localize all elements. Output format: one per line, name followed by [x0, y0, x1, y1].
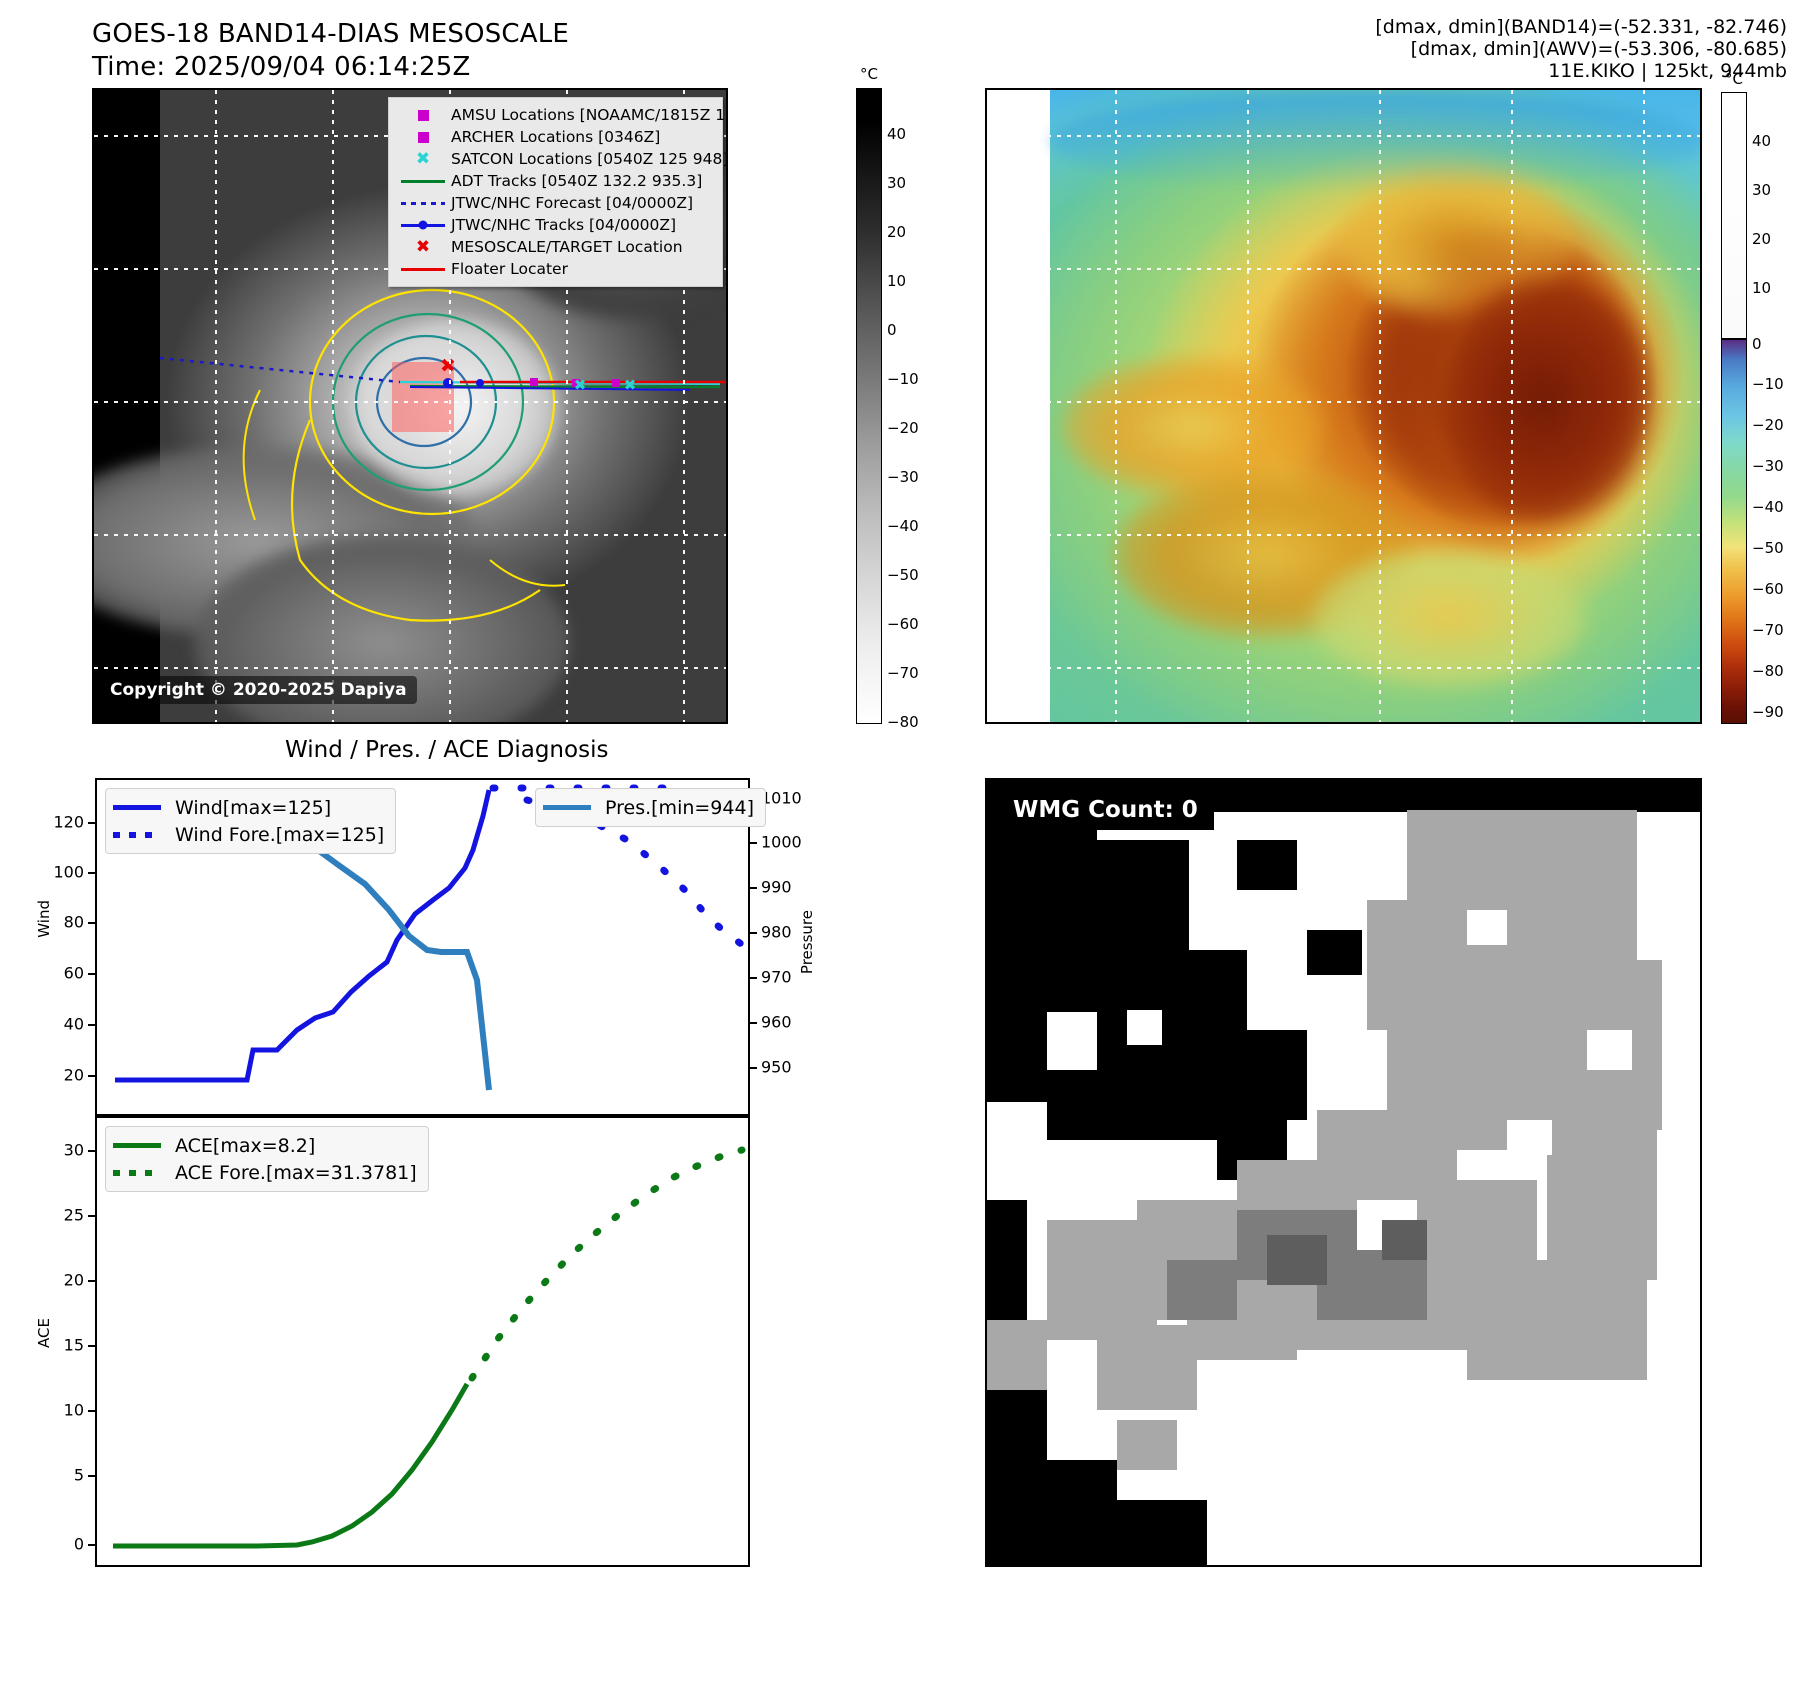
legend-label: Wind[max=125] — [175, 797, 331, 819]
cir-colorbar-lower[interactable]: 0 −10 −20 −30 −40 −50 −60 −70 −80 −90 — [1721, 339, 1747, 724]
legend-item[interactable]: ✖ SATCON Locations [0540Z 125 948] — [395, 148, 714, 170]
legend-label: Wind Fore.[max=125] — [175, 824, 384, 846]
stats-awv: [dmax, dmin](AWV)=(-53.306, -80.685) — [1375, 38, 1787, 60]
color-ir-panel[interactable]: 18°N 16°N 14°N 12°N 10°N 136°W 134°W 132… — [985, 88, 1702, 724]
ace-axis-label: ACE — [35, 1318, 53, 1348]
cb-tick: −80 — [887, 713, 919, 731]
cir-gridline-v — [1115, 90, 1117, 722]
forecast-dotted-line-icon — [395, 202, 451, 205]
amsu-square-icon — [395, 110, 451, 121]
cir-gridline-h — [987, 534, 1700, 536]
legend-item[interactable]: JTWC/NHC Tracks [04/0000Z] — [395, 214, 714, 236]
legend-label: SATCON Locations [0540Z 125 948] — [451, 150, 728, 168]
satcon-x-icon: ✖ — [395, 151, 451, 168]
cb-tick: −70 — [887, 664, 919, 682]
cir-gridline-h — [987, 667, 1700, 669]
cir-gridline-h — [987, 135, 1700, 137]
legend-label: ACE[max=8.2] — [175, 1135, 315, 1157]
svg-text:✖: ✖ — [574, 376, 587, 394]
legend-label: AMSU Locations [NOAAMC/1815Z 104 973] — [451, 106, 728, 124]
ace-ytick: 10 — [64, 1401, 84, 1420]
pressure-legend[interactable]: Pres.[min=944] — [535, 788, 766, 827]
ace-ytick: 0 — [74, 1535, 84, 1554]
svg-text:✖: ✖ — [624, 376, 637, 394]
legend-item[interactable]: JTWC/NHC Forecast [04/0000Z] — [395, 192, 714, 214]
ace-chart[interactable]: 30 25 20 15 10 5 0 ACE ACE[max=8.2] ACE … — [95, 1116, 750, 1567]
page-title: GOES-18 BAND14-DIAS MESOSCALE Time: 2025… — [92, 18, 569, 84]
archer-square-icon — [395, 132, 451, 143]
target-x-icon: ✖ — [395, 239, 451, 256]
cb-tick: 40 — [1752, 132, 1771, 150]
cb-tick: −10 — [887, 370, 919, 388]
wmg-grid-image — [987, 780, 1700, 1565]
cb-tick: 30 — [1752, 181, 1771, 199]
cir-gridline-v — [1379, 90, 1381, 722]
legend-label: ADT Tracks [0540Z 132.2 935.3] — [451, 172, 702, 190]
wind-ytick: 100 — [53, 863, 84, 882]
wind-ytick: 60 — [64, 964, 84, 983]
cb-tick: −50 — [887, 566, 919, 584]
cb-tick: −40 — [887, 517, 919, 535]
ace-legend[interactable]: ACE[max=8.2] ACE Fore.[max=31.3781] — [105, 1126, 429, 1192]
ace-solid-line-icon — [113, 1143, 175, 1148]
cb-tick: −60 — [1752, 580, 1784, 598]
cb-tick: 20 — [887, 223, 906, 241]
cb-tick: −40 — [1752, 498, 1784, 516]
cb-tick: −60 — [887, 615, 919, 633]
legend-item[interactable]: ARCHER Locations [0346Z] — [395, 126, 714, 148]
title-line-2: Time: 2025/09/04 06:14:25Z — [92, 51, 569, 84]
legend-label: MESOSCALE/TARGET Location — [451, 238, 683, 256]
cb-tick: −10 — [1752, 375, 1784, 393]
ace-ytick: 25 — [64, 1206, 84, 1225]
wind-ytick: 40 — [64, 1015, 84, 1034]
pres-ytick: 980 — [761, 923, 792, 942]
wind-legend[interactable]: Wind[max=125] Wind Fore.[max=125] — [105, 788, 396, 854]
ir-colorbar[interactable]: 40 30 20 10 0 −10 −20 −30 −40 −50 −60 −7… — [856, 88, 882, 724]
cb-tick: −70 — [1752, 621, 1784, 639]
floater-line-icon — [395, 268, 451, 271]
legend-item[interactable]: AMSU Locations [NOAAMC/1815Z 104 973] — [395, 104, 714, 126]
cb-tick: 10 — [1752, 279, 1771, 297]
legend-label: JTWC/NHC Forecast [04/0000Z] — [451, 194, 693, 212]
ir-gridline-h — [94, 667, 726, 669]
legend-label: ARCHER Locations [0346Z] — [451, 128, 660, 146]
legend-item[interactable]: Wind[max=125] — [113, 794, 384, 821]
cir-gridline-v — [1511, 90, 1513, 722]
legend-label: Floater Locater — [451, 260, 568, 278]
cir-gridline-h — [987, 401, 1700, 403]
cb-tick: −50 — [1752, 539, 1784, 557]
cb-tick: 0 — [887, 321, 897, 339]
pres-ytick: 950 — [761, 1058, 792, 1077]
pres-ytick: 960 — [761, 1013, 792, 1032]
legend-item[interactable]: ✖ MESOSCALE/TARGET Location — [395, 236, 714, 258]
wind-solid-line-icon — [113, 805, 175, 810]
pressure-axis-label: Pressure — [798, 910, 816, 974]
cb-tick: −80 — [1752, 662, 1784, 680]
ace-forecast-dotted-line-icon — [113, 1170, 175, 1176]
pres-ytick: 990 — [761, 878, 792, 897]
pres-ytick: 1000 — [761, 833, 802, 852]
cb-tick: −30 — [1752, 457, 1784, 475]
adt-line-icon — [395, 180, 451, 183]
wind-ytick: 120 — [53, 813, 84, 832]
ace-ytick: 30 — [64, 1141, 84, 1160]
cir-colorbar-unit: °C — [1725, 70, 1743, 88]
legend-item[interactable]: ACE Fore.[max=31.3781] — [113, 1159, 417, 1186]
cir-gridline-v — [1247, 90, 1249, 722]
cb-tick: 40 — [887, 125, 906, 143]
cb-tick: 20 — [1752, 230, 1771, 248]
legend-item[interactable]: Wind Fore.[max=125] — [113, 821, 384, 848]
color-ir-image — [1050, 90, 1702, 724]
title-line-1: GOES-18 BAND14-DIAS MESOSCALE — [92, 18, 569, 51]
ir-gridline-v — [332, 90, 334, 722]
wind-forecast-dotted-line-icon — [113, 832, 175, 838]
wind-pressure-chart[interactable]: 120 100 80 60 40 20 Wind 1010 1000 990 9… — [95, 778, 750, 1116]
legend-label: Pres.[min=944] — [605, 797, 754, 819]
dashboard-root: GOES-18 BAND14-DIAS MESOSCALE Time: 2025… — [0, 0, 1797, 1690]
ir-gridline-h — [94, 401, 726, 403]
cir-gridline-v — [1643, 90, 1645, 722]
ir-gridline-v — [215, 90, 217, 722]
cb-tick: 0 — [1752, 335, 1762, 353]
wind-ytick: 80 — [64, 913, 84, 932]
ace-ytick: 20 — [64, 1271, 84, 1290]
cir-gridline-h — [987, 268, 1700, 270]
cb-tick: −90 — [1752, 703, 1784, 721]
legend-label: ACE Fore.[max=31.3781] — [175, 1162, 417, 1184]
ir-legend[interactable]: AMSU Locations [NOAAMC/1815Z 104 973] AR… — [388, 97, 723, 287]
cb-tick: −30 — [887, 468, 919, 486]
cb-tick: 30 — [887, 174, 906, 192]
wind-ytick: 20 — [64, 1066, 84, 1085]
ir-gridline-h — [94, 534, 726, 536]
legend-item[interactable]: ACE[max=8.2] — [113, 1132, 417, 1159]
legend-label: JTWC/NHC Tracks [04/0000Z] — [451, 216, 676, 234]
wind-axis-label: Wind — [35, 900, 53, 938]
svg-text:✖: ✖ — [440, 355, 456, 377]
legend-item[interactable]: ADT Tracks [0540Z 132.2 935.3] — [395, 170, 714, 192]
wmg-count-badge: WMG Count: 0 — [997, 790, 1214, 830]
stats-band14: [dmax, dmin](BAND14)=(-52.331, -82.746) — [1375, 16, 1787, 38]
ir-mesoscale-panel[interactable]: ✖ ✖ ✖ AMSU Locations [NOAAMC/1815Z 104 9… — [92, 88, 728, 724]
pres-ytick: 1010 — [761, 789, 802, 808]
ace-ytick: 5 — [74, 1466, 84, 1485]
legend-item[interactable]: Floater Locater — [395, 258, 714, 280]
pres-ytick: 970 — [761, 968, 792, 987]
copyright-notice: Copyright © 2020-2025 Dapiya — [100, 676, 417, 704]
cb-tick: −20 — [887, 419, 919, 437]
ir-colorbar-unit: °C — [860, 65, 878, 83]
cb-tick: −20 — [1752, 416, 1784, 434]
diagnosis-title: Wind / Pres. / ACE Diagnosis — [285, 737, 608, 763]
cir-colorbar-upper[interactable]: 40 30 20 10 — [1721, 92, 1747, 339]
legend-item[interactable]: Pres.[min=944] — [543, 794, 754, 821]
wmg-panel[interactable]: WMG Count: 0 — [985, 778, 1702, 1567]
ace-ytick: 15 — [64, 1336, 84, 1355]
pressure-solid-line-icon — [543, 805, 605, 810]
cb-tick: 10 — [887, 272, 906, 290]
track-line-dot-icon — [395, 224, 451, 227]
